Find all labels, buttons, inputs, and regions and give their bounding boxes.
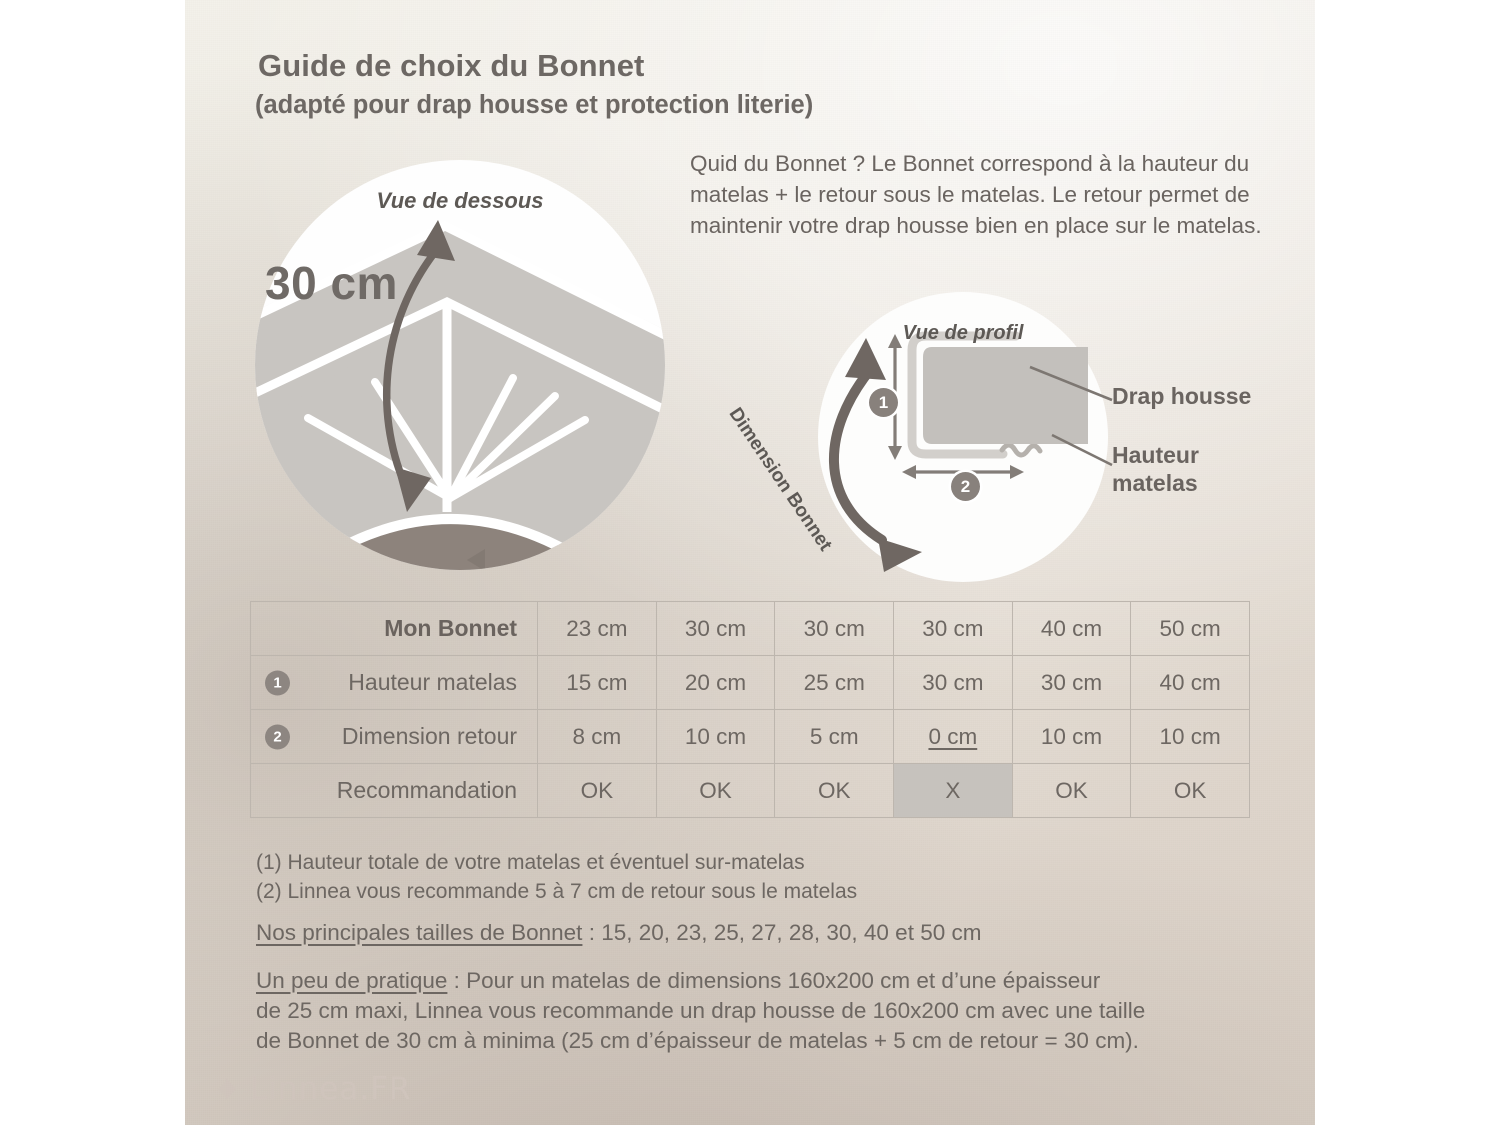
table-cell: 0 cm [894, 710, 1013, 764]
table-cell: 30 cm [894, 656, 1013, 710]
table-row: RecommandationOKOKOKXOKOK [251, 764, 1250, 818]
bonnet-comparison-table: Mon Bonnet23 cm30 cm30 cm30 cm40 cm50 cm… [250, 601, 1250, 818]
brand-logo[interactable]: Linnea.FR [213, 1071, 411, 1107]
practical-example-line2: de 25 cm maxi, Linnea vous recommande un… [256, 996, 1256, 1026]
table-cell: 40 cm [1131, 656, 1250, 710]
table-cell: 15 cm [538, 656, 657, 710]
callout-hauteur-matelas: Hauteur matelas [1112, 441, 1199, 497]
available-sizes-line: Nos principales tailles de Bonnet : 15, … [256, 918, 1206, 948]
arc-stroke [834, 370, 882, 540]
table-row-header: 1Hauteur matelas [251, 656, 538, 710]
table-row: 2Dimension retour8 cm10 cm5 cm0 cm10 cm1… [251, 710, 1250, 764]
table-row-header: 2Dimension retour [251, 710, 538, 764]
practical-example-line3: de Bonnet de 30 cm à minima (25 cm d’épa… [256, 1026, 1256, 1056]
diamond-leaf-icon [213, 1076, 239, 1102]
table-cell: OK [775, 764, 894, 818]
practical-example: Un peu de pratique : Pour un matelas de … [256, 966, 1256, 1056]
intro-paragraph: Quid du Bonnet ? Le Bonnet correspond à … [690, 148, 1270, 241]
table-cell: 20 cm [656, 656, 775, 710]
table-cell: 30 cm [775, 602, 894, 656]
practical-example-label: Un peu de pratique [256, 968, 447, 993]
callout-hauteur-line2: matelas [1112, 469, 1199, 497]
available-sizes-label: Nos principales tailles de Bonnet [256, 920, 582, 945]
table-cell: 25 cm [775, 656, 894, 710]
leader-line-sheet [1030, 367, 1112, 400]
table-cell: OK [538, 764, 657, 818]
table-cell: OK [1012, 764, 1131, 818]
bottom-view-diagram: Vue de dessous 30 cm [255, 160, 665, 570]
practical-example-line1: Un peu de pratique : Pour un matelas de … [256, 966, 1256, 996]
table-cell: 30 cm [1012, 656, 1131, 710]
arc-arrow-head-bottom [878, 538, 922, 572]
bottom-view-caption: Vue de dessous [255, 188, 665, 214]
table-cell: 30 cm [656, 602, 775, 656]
table-cell: 5 cm [775, 710, 894, 764]
infographic-canvas: Guide de choix du Bonnet (adapté pour dr… [0, 0, 1500, 1125]
available-sizes-values: : 15, 20, 23, 25, 27, 28, 30, 40 et 50 c… [582, 920, 981, 945]
footnotes: (1) Hauteur totale de votre matelas et é… [256, 848, 1156, 906]
table-row: Mon Bonnet23 cm30 cm30 cm30 cm40 cm50 cm [251, 602, 1250, 656]
footnote-1: (1) Hauteur totale de votre matelas et é… [256, 848, 1156, 877]
leader-line-height [1052, 435, 1112, 465]
table-cell: 8 cm [538, 710, 657, 764]
brand-name: Linnea.FR [250, 1071, 411, 1107]
table-row: 1Hauteur matelas15 cm20 cm25 cm30 cm30 c… [251, 656, 1250, 710]
row-badge-1: 1 [265, 670, 290, 695]
table-row-header: Recommandation [251, 764, 538, 818]
table-cell: OK [1131, 764, 1250, 818]
callout-hauteur-line1: Hauteur [1112, 441, 1199, 469]
bonnet-measure-label: 30 cm [265, 256, 398, 310]
table-cell-not-recommended: X [894, 764, 1013, 818]
table-row-header: Mon Bonnet [251, 602, 538, 656]
table-cell: 10 cm [1131, 710, 1250, 764]
row-badge-2: 2 [265, 724, 290, 749]
page-title: Guide de choix du Bonnet [258, 48, 644, 84]
table-cell: 23 cm [538, 602, 657, 656]
table-cell: OK [656, 764, 775, 818]
arc-arrow-head-top [845, 338, 886, 380]
table-cell: 40 cm [1012, 602, 1131, 656]
practical-example-text1: : Pour un matelas de dimensions 160x200 … [447, 968, 1100, 993]
table-body: Mon Bonnet23 cm30 cm30 cm30 cm40 cm50 cm… [251, 602, 1250, 818]
table-cell: 10 cm [1012, 710, 1131, 764]
table-cell: 10 cm [656, 710, 775, 764]
callout-drap-housse: Drap housse [1112, 382, 1251, 410]
table-cell: 30 cm [894, 602, 1013, 656]
highlighted-value: 0 cm [928, 724, 977, 749]
footnote-2: (2) Linnea vous recommande 5 à 7 cm de r… [256, 877, 1156, 906]
bottom-view-illustration [255, 160, 665, 570]
table-cell: 50 cm [1131, 602, 1250, 656]
page-subtitle: (adapté pour drap housse et protection l… [255, 91, 813, 120]
